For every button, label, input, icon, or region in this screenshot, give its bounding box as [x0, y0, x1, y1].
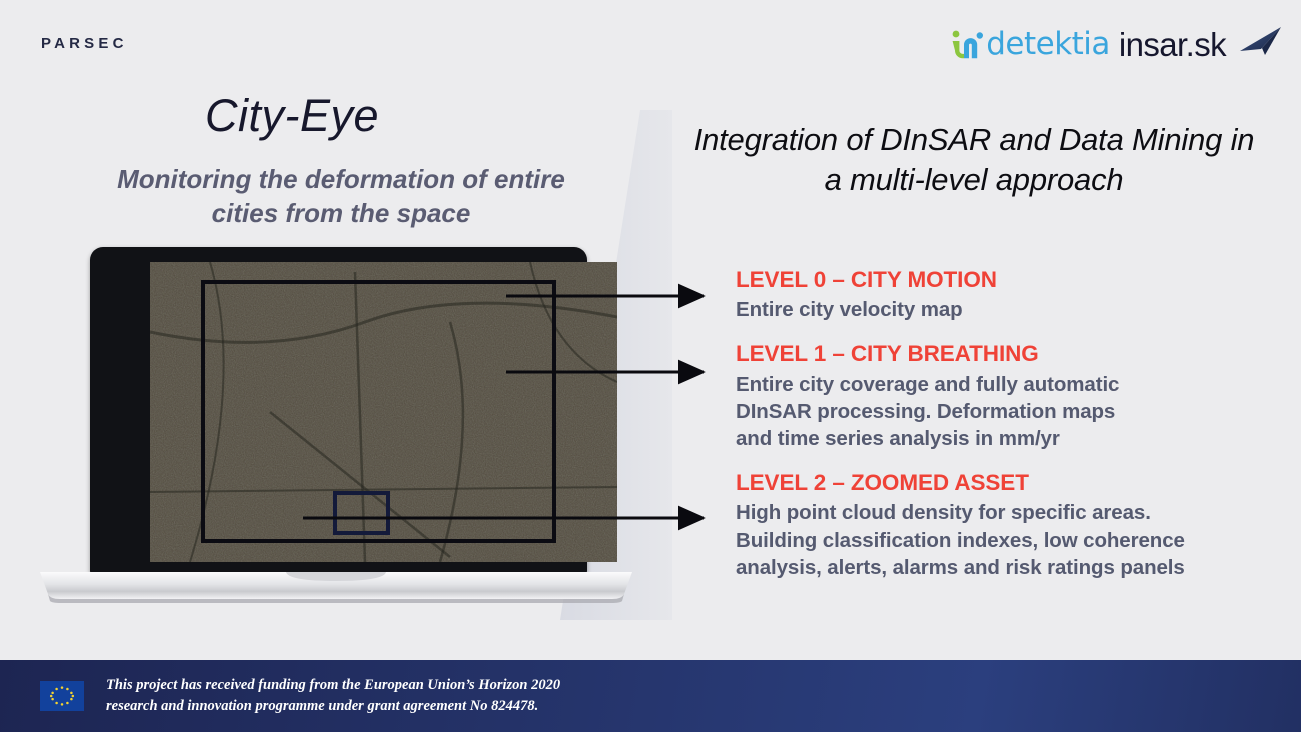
level-1-body: Entire city coverage and fully automatic…	[736, 371, 1296, 453]
eu-funding-footer: This project has received funding from t…	[0, 660, 1301, 732]
level-2-heading: LEVEL 2 – ZOOMED ASSET	[736, 469, 1296, 497]
level-item-1: LEVEL 1 – CITY BREATHING Entire city cov…	[736, 340, 1296, 452]
level-0-heading: LEVEL 0 – CITY MOTION	[736, 266, 1296, 294]
level-list: LEVEL 0 – CITY MOTION Entire city veloci…	[736, 266, 1296, 581]
level-2-body: High point cloud density for specific ar…	[736, 499, 1296, 581]
level-1-heading: LEVEL 1 – CITY BREATHING	[736, 340, 1296, 368]
slide-canvas: PARSEC detektia insar.sk City-Eye	[0, 0, 1301, 732]
level-item-0: LEVEL 0 – CITY MOTION Entire city veloci…	[736, 266, 1296, 323]
level-0-body: Entire city velocity map	[736, 296, 1296, 323]
funding-statement: This project has received funding from t…	[106, 675, 560, 717]
level-item-2: LEVEL 2 – ZOOMED ASSET High point cloud …	[736, 469, 1296, 581]
eu-flag-icon	[40, 681, 84, 711]
